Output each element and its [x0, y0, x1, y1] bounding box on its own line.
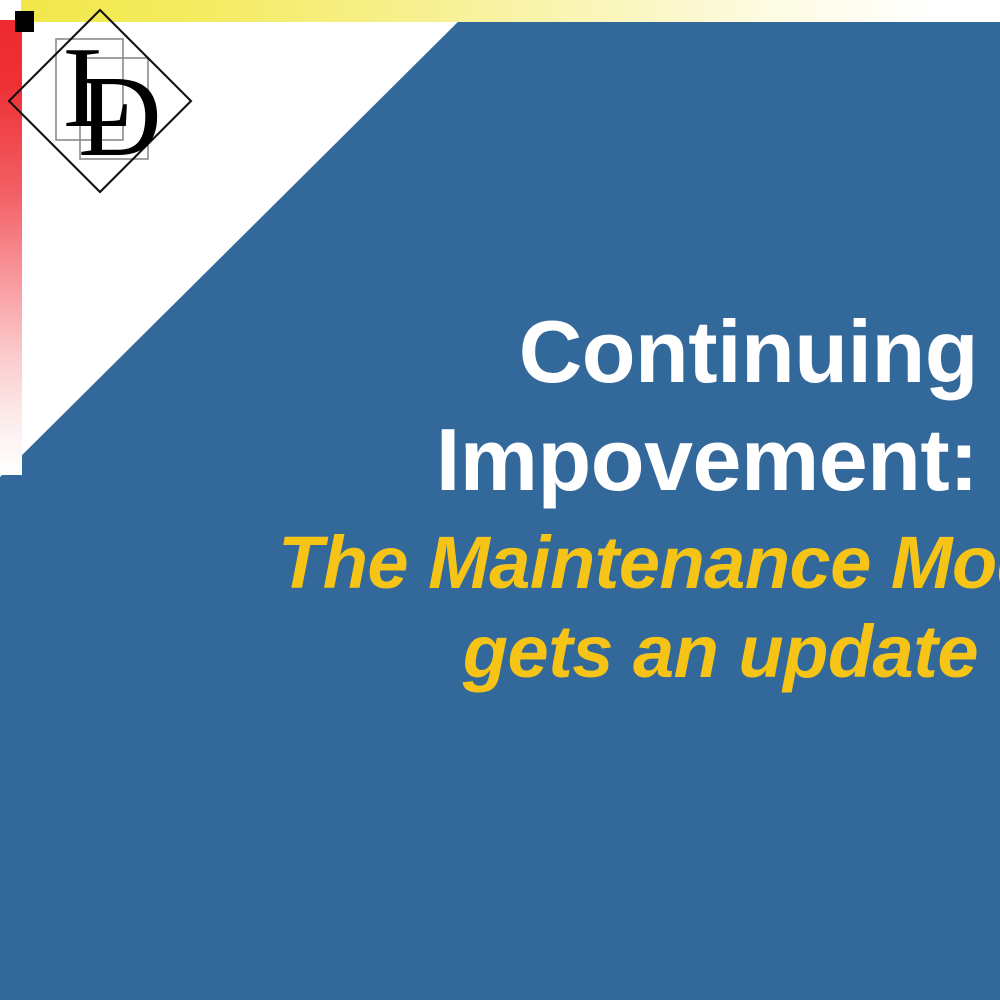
- page-title: Continuing Impovement:: [278, 298, 978, 514]
- title-line-2: Impovement:: [278, 406, 978, 514]
- subtitle-line-1: The Maintenance Module: [278, 518, 978, 607]
- slide-text-block: Continuing Impovement: The Maintenance M…: [278, 298, 978, 696]
- logo-letter-d: D: [78, 53, 162, 181]
- ld-logo: L D: [8, 8, 216, 216]
- title-line-1: Continuing: [278, 298, 978, 406]
- title-slide: L D Continuing Impovement: The Maintenan…: [0, 0, 1000, 1000]
- page-subtitle: The Maintenance Module gets an update: [278, 518, 978, 696]
- subtitle-line-2: gets an update: [278, 607, 978, 696]
